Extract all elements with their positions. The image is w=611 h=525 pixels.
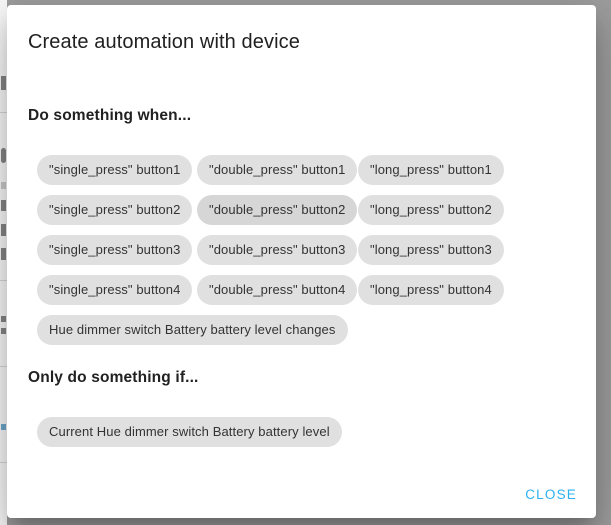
automation-chip[interactable]: "long_press" button1 bbox=[358, 155, 504, 185]
chip-cell: "single_press" button4 bbox=[37, 270, 197, 310]
chip-cell: "double_press" button2 bbox=[197, 190, 358, 230]
chip-cell: "double_press" button3 bbox=[197, 230, 358, 270]
automation-chip[interactable]: "double_press" button1 bbox=[197, 155, 357, 185]
underlay-text-fragment bbox=[1, 200, 6, 211]
condition-chip-group: Current Hue dimmer switch Battery batter… bbox=[37, 412, 582, 452]
underlay-text-fragment bbox=[1, 224, 6, 236]
chip-cell: "long_press" button2 bbox=[358, 190, 518, 230]
dialog-title: Create automation with device bbox=[28, 29, 300, 55]
underlay-divider bbox=[0, 462, 7, 463]
trigger-chip-group: "single_press" button1"double_press" but… bbox=[37, 150, 582, 345]
underlay-text-fragment bbox=[1, 148, 6, 163]
dialog-body: Create automation with device Do somethi… bbox=[7, 5, 596, 470]
underlay-text-fragment bbox=[1, 248, 6, 260]
underlay-text-fragment bbox=[1, 316, 6, 322]
underlay-divider bbox=[0, 112, 7, 113]
automation-chip[interactable]: "double_press" button2 bbox=[197, 195, 357, 225]
underlying-page-sliver bbox=[0, 0, 7, 525]
automation-chip[interactable]: "long_press" button3 bbox=[358, 235, 504, 265]
underlay-text-fragment bbox=[1, 328, 6, 334]
automation-chip[interactable]: Current Hue dimmer switch Battery batter… bbox=[37, 417, 342, 447]
chip-cell: "long_press" button1 bbox=[358, 150, 518, 190]
automation-chip[interactable]: "long_press" button4 bbox=[358, 275, 504, 305]
chip-cell: "long_press" button4 bbox=[358, 270, 518, 310]
chip-cell: "single_press" button2 bbox=[37, 190, 197, 230]
automation-chip[interactable]: "long_press" button2 bbox=[358, 195, 504, 225]
modal-backdrop[interactable]: Create automation with device Do somethi… bbox=[0, 0, 611, 525]
section-heading-conditions: Only do something if... bbox=[28, 368, 199, 388]
section-heading-triggers: Do something when... bbox=[28, 106, 191, 126]
underlay-text-fragment bbox=[1, 182, 6, 189]
automation-chip[interactable]: "single_press" button1 bbox=[37, 155, 192, 185]
chip-cell: Current Hue dimmer switch Battery batter… bbox=[37, 412, 582, 452]
dialog-actions: CLOSE bbox=[7, 470, 596, 518]
underlay-divider bbox=[0, 280, 7, 281]
chip-cell: Hue dimmer switch Battery battery level … bbox=[37, 310, 582, 350]
chip-cell: "double_press" button1 bbox=[197, 150, 358, 190]
automation-chip[interactable]: "double_press" button3 bbox=[197, 235, 357, 265]
automation-chip[interactable]: "single_press" button2 bbox=[37, 195, 192, 225]
underlay-divider bbox=[0, 366, 7, 367]
create-automation-dialog: Create automation with device Do somethi… bbox=[7, 5, 596, 518]
chip-cell: "double_press" button4 bbox=[197, 270, 358, 310]
chip-cell: "long_press" button3 bbox=[358, 230, 518, 270]
automation-chip[interactable]: "double_press" button4 bbox=[197, 275, 357, 305]
chip-cell: "single_press" button3 bbox=[37, 230, 197, 270]
automation-chip[interactable]: "single_press" button4 bbox=[37, 275, 192, 305]
chip-cell: "single_press" button1 bbox=[37, 150, 197, 190]
underlay-text-fragment bbox=[1, 76, 6, 90]
close-button[interactable]: CLOSE bbox=[517, 479, 585, 510]
underlay-link-fragment bbox=[1, 424, 6, 430]
automation-chip[interactable]: Hue dimmer switch Battery battery level … bbox=[37, 315, 348, 345]
automation-chip[interactable]: "single_press" button3 bbox=[37, 235, 192, 265]
